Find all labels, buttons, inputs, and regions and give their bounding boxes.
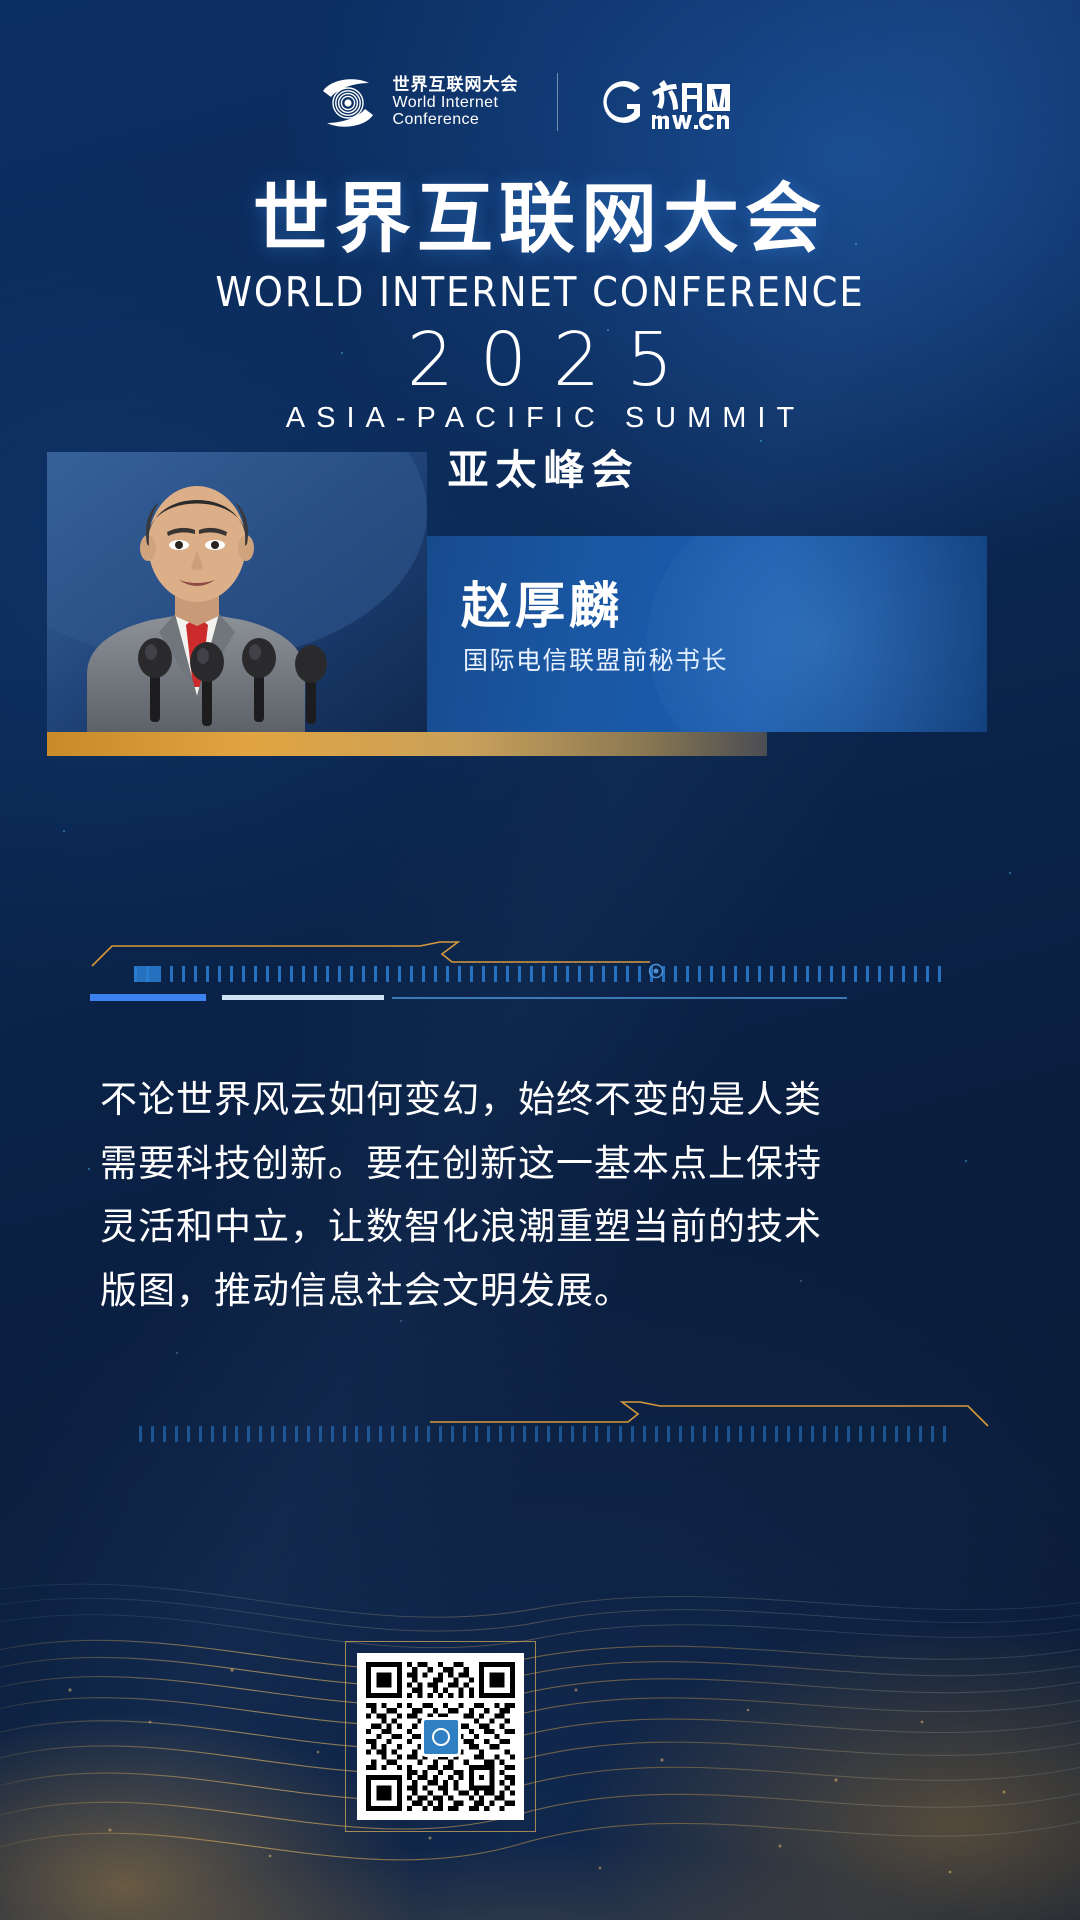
qr-code[interactable] xyxy=(357,1653,524,1820)
qr-center-logo-icon xyxy=(421,1717,461,1757)
poster-root: 世界互联网大会 World Internet Conference xyxy=(0,0,1080,1920)
wic-logo-en2: Conference xyxy=(393,111,519,128)
ornament-gold-line-bottom xyxy=(90,1396,990,1430)
wic-logo-text: 世界互联网大会 World Internet Conference xyxy=(393,76,519,129)
gold-accent-bar xyxy=(47,732,767,756)
ornament-bar-thin xyxy=(392,997,847,999)
header-logo-bar: 世界互联网大会 World Internet Conference xyxy=(0,62,1080,142)
wic-swirl-icon xyxy=(317,71,379,133)
ornament-bar-white xyxy=(222,995,384,1000)
title-en-main: WORLD INTERNET CONFERENCE xyxy=(0,272,1080,313)
quote-line-1: 不论世界风云如何变幻，始终不变的是人类 xyxy=(100,1068,772,1132)
quote-block: 不论世界风云如何变幻，始终不变的是人类 需要科技创新。要在创新这一基本点上保持 … xyxy=(100,1068,772,1323)
title-en-sub: ASIA-PACIFIC SUMMIT xyxy=(0,404,1080,433)
quote-line-4: 版图，推动信息社会文明发展。 xyxy=(100,1259,772,1323)
title-block: 世界互联网大会 WORLD INTERNET CONFERENCE 2025 A… xyxy=(0,182,1080,491)
wic-logo-en1: World Internet xyxy=(393,94,519,111)
quote-line-2: 需要科技创新。要在创新这一基本点上保持 xyxy=(100,1132,772,1196)
ornament-node-icon xyxy=(645,960,667,982)
logo-divider xyxy=(557,73,558,131)
speaker-title: 国际电信联盟前秘书长 xyxy=(463,641,728,677)
speaker-name: 赵厚麟 xyxy=(461,566,623,638)
speaker-card: 赵厚麟 国际电信联盟前秘书长 xyxy=(47,536,987,732)
title-cn-main: 世界互联网大会 xyxy=(0,182,1080,258)
ornament-ticks xyxy=(136,1426,946,1442)
guangming-logo xyxy=(596,71,764,133)
ornament-gold-line-top xyxy=(90,936,990,970)
speaker-photo xyxy=(47,452,427,732)
quote-line-3: 灵活和中立，让数智化浪潮重塑当前的技术 xyxy=(100,1195,772,1259)
wic-logo-cn: 世界互联网大会 xyxy=(393,76,519,94)
guangming-net-icon xyxy=(596,71,764,133)
wic-logo: 世界互联网大会 World Internet Conference xyxy=(317,71,519,133)
ornament-ticks xyxy=(134,966,944,982)
divider-ornament-bottom xyxy=(90,1396,990,1460)
bottom-wave-art xyxy=(0,1280,1080,1920)
ornament-bar-blue xyxy=(90,994,206,1001)
wave-glow xyxy=(0,1440,1080,1920)
divider-ornament-top xyxy=(90,936,990,1000)
title-year: 2025 xyxy=(0,323,1080,398)
